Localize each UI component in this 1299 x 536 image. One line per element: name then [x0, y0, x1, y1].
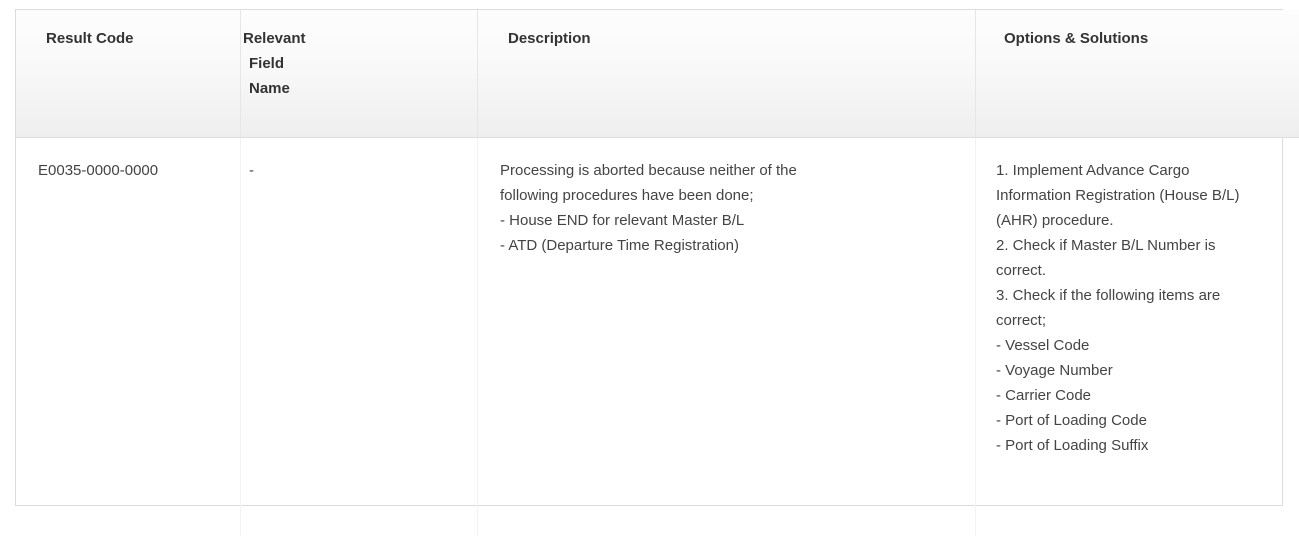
column-header-relevant-field-name: Relevant Field Name: [241, 10, 478, 138]
table-header-row: Result Code Relevant Field Name Descript…: [16, 10, 1299, 138]
column-header-description: Description: [478, 10, 976, 138]
table-body: E0035-0000-0000 - Processing is aborted …: [16, 138, 1299, 536]
table-header: Result Code Relevant Field Name Descript…: [16, 10, 1299, 138]
column-header-options-solutions-label: Options & Solutions: [996, 26, 1299, 51]
column-header-relevant-field-name-line1: Relevant: [249, 26, 477, 51]
result-code-table-container: Result Code Relevant Field Name Descript…: [15, 9, 1283, 506]
column-header-relevant-field-name-line3: Name: [249, 76, 477, 101]
cell-description: Processing is aborted because neither of…: [478, 138, 976, 536]
column-header-result-code: Result Code: [16, 10, 241, 138]
column-header-relevant-field-name-label: Relevant Field Name: [241, 26, 477, 101]
cell-description-text: Processing is aborted because neither of…: [500, 158, 957, 258]
cell-result-code: E0035-0000-0000: [16, 138, 241, 536]
cell-options-solutions-text: 1. Implement Advance Cargo Information R…: [996, 158, 1299, 458]
cell-relevant-field-name: -: [241, 138, 478, 536]
result-code-table: Result Code Relevant Field Name Descript…: [16, 10, 1299, 536]
cell-options-solutions: 1. Implement Advance Cargo Information R…: [976, 138, 1299, 536]
cell-relevant-field-name-text: -: [249, 158, 459, 183]
table-row: E0035-0000-0000 - Processing is aborted …: [16, 138, 1299, 536]
column-header-description-label: Description: [500, 26, 975, 51]
column-header-result-code-label: Result Code: [38, 26, 240, 51]
cell-result-code-text: E0035-0000-0000: [38, 158, 222, 183]
column-header-relevant-field-name-line2: Field: [249, 51, 477, 76]
column-header-options-solutions: Options & Solutions: [976, 10, 1299, 138]
